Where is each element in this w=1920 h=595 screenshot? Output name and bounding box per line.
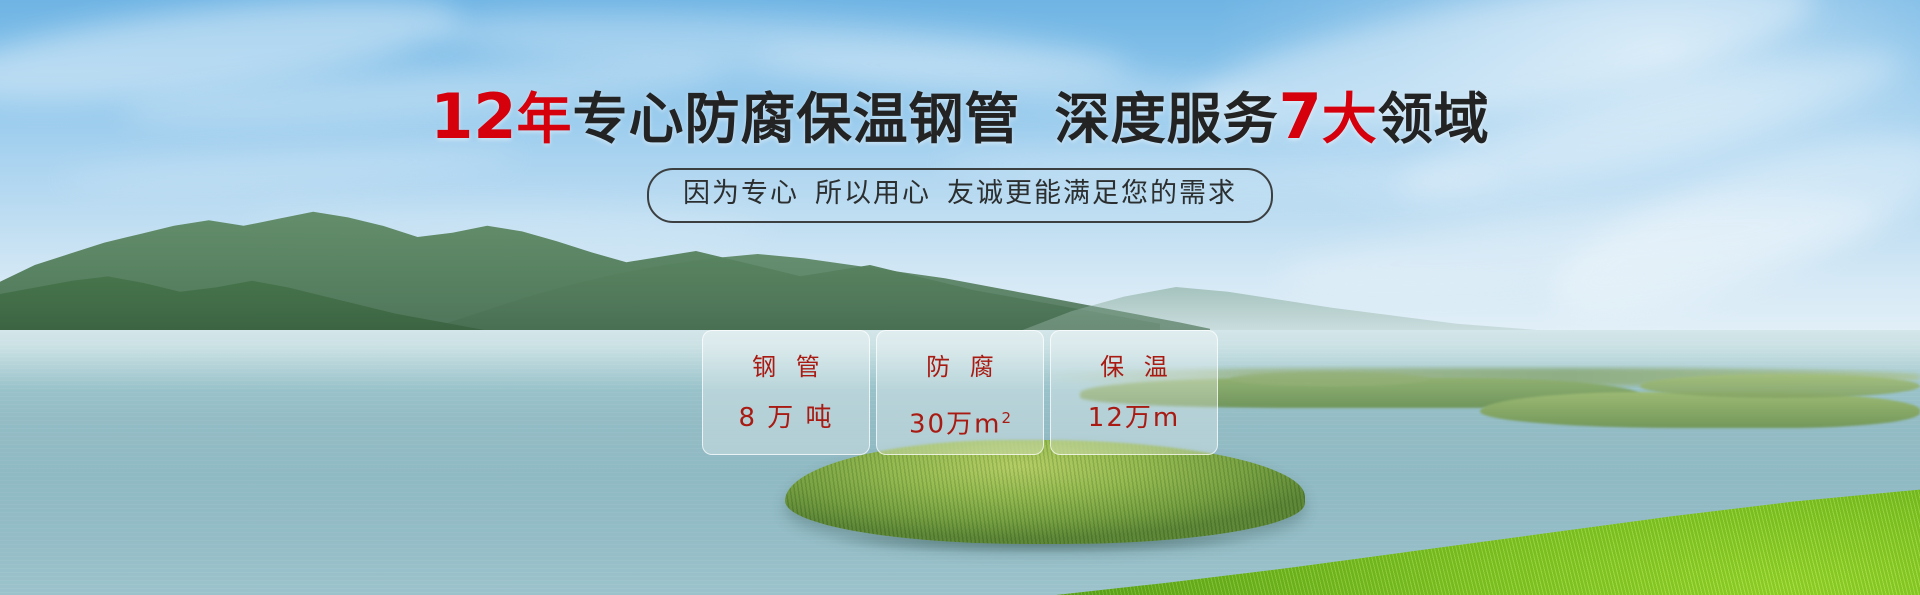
subtitle-part-2: 所以用心 xyxy=(815,178,931,209)
headline-fields-number: 7 xyxy=(1279,80,1322,153)
headline-fields-tail: 领域 xyxy=(1378,87,1490,151)
stat-card-title: 防 腐 xyxy=(920,353,1000,381)
stat-card-value-superscript: 2 xyxy=(1001,409,1011,427)
stat-card-title: 保 温 xyxy=(1094,353,1174,381)
stat-card-list: 钢 管 8 万 吨 防 腐 30万m2 保 温 12万m xyxy=(0,330,1920,455)
stat-card-value-text: 30万m xyxy=(909,410,1001,440)
headline-fields-unit: 大 xyxy=(1322,87,1378,151)
subtitle-pill: 因为专心所以用心友诚更能满足您的需求 xyxy=(647,168,1273,223)
headline-service-text: 深度服务 xyxy=(1055,87,1279,151)
headline-years-number: 12 xyxy=(430,80,516,153)
stat-card-anticorrosion[interactable]: 防 腐 30万m2 xyxy=(876,330,1044,455)
headline-main-text: 专心防腐保温钢管 xyxy=(573,87,1021,151)
stat-card-value: 30万m2 xyxy=(909,403,1011,440)
stat-card-value: 8 万 吨 xyxy=(738,403,833,433)
stat-card-value-text: 8 万 吨 xyxy=(738,403,833,433)
subtitle-part-1: 因为专心 xyxy=(683,178,799,209)
stat-card-title: 钢 管 xyxy=(746,353,826,381)
stat-card-steel-pipe[interactable]: 钢 管 8 万 吨 xyxy=(702,330,870,455)
stat-card-value: 12万m xyxy=(1088,403,1180,433)
headline-years-unit: 年 xyxy=(517,87,573,151)
subtitle-container: 因为专心所以用心友诚更能满足您的需求 xyxy=(0,168,1920,223)
banner-content: 12年专心防腐保温钢管深度服务7大领域 因为专心所以用心友诚更能满足您的需求 钢… xyxy=(0,0,1920,595)
stat-card-insulation[interactable]: 保 温 12万m xyxy=(1050,330,1218,455)
promo-banner: 12年专心防腐保温钢管深度服务7大领域 因为专心所以用心友诚更能满足您的需求 钢… xyxy=(0,0,1920,595)
stat-card-value-text: 12万m xyxy=(1088,403,1180,433)
headline: 12年专心防腐保温钢管深度服务7大领域 xyxy=(0,86,1920,150)
subtitle-part-3: 友诚更能满足您的需求 xyxy=(947,178,1237,209)
